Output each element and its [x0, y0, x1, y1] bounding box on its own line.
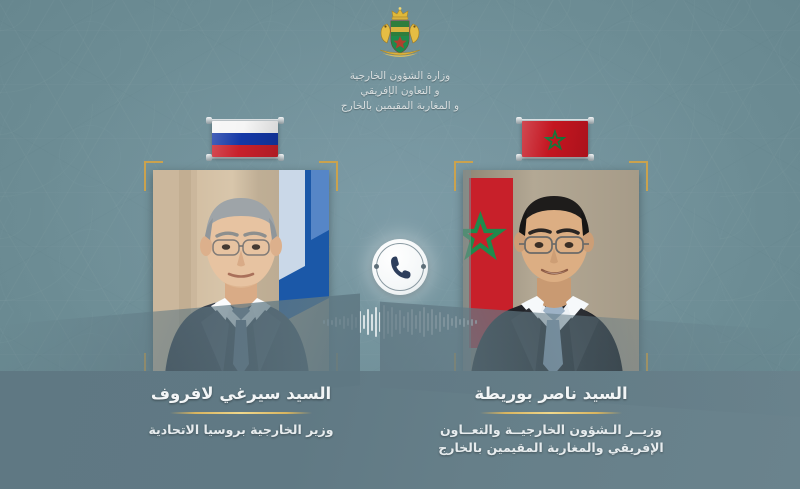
caption-right: السيد ناصر بوريطة وزيــر الـشؤون الخارجي…	[391, 384, 711, 457]
header: وزارة الشؤون الخارجية و التعاون الإفريقي…	[0, 6, 800, 115]
phone-handset-icon	[387, 254, 414, 281]
caption-divider-left	[170, 412, 312, 414]
waveform-bar	[375, 307, 377, 337]
ministry-line-2: و التعاون الإفريقي	[341, 84, 459, 99]
flag-cap-br	[588, 154, 594, 161]
morocco-coat-of-arms-emblem	[368, 6, 432, 64]
call-announcement-card: وزارة الشؤون الخارجية و التعاون الإفريقي…	[0, 0, 800, 489]
ministry-line-3: و المغاربة المقيمين بالخارج	[341, 99, 459, 114]
flag-sheen	[522, 121, 588, 157]
badge-dot-right	[421, 264, 426, 269]
flag-cap-tr	[588, 117, 594, 124]
ministry-line-1: وزارة الشؤون الخارجية	[341, 69, 459, 84]
person-title-right-line-2: الإفريقي والمغاربة المقيمين بالخارج	[391, 439, 711, 457]
person-name-right: السيد ناصر بوريطة	[391, 384, 711, 405]
ministry-name: وزارة الشؤون الخارجية و التعاون الإفريقي…	[341, 69, 459, 115]
flag-cap-br	[278, 154, 284, 161]
person-title-left-line-1: وزير الخارجية بروسيا الاتحادية	[81, 421, 401, 439]
badge-dot-left	[374, 264, 379, 269]
phone-call-badge	[372, 239, 428, 295]
waveform-bar	[367, 309, 369, 335]
person-title-right: وزيــر الـشؤون الخارجيــة والتعــاون الإ…	[391, 421, 711, 457]
person-name-left: السيد سيرغي لافروف	[81, 384, 401, 405]
russia-flag	[212, 121, 278, 157]
person-title-right-line-1: وزيــر الـشؤون الخارجيــة والتعــاون	[391, 421, 711, 439]
flag-sheen	[212, 121, 278, 157]
russia-flag-holder	[206, 117, 284, 161]
morocco-flag	[522, 121, 588, 157]
caption-divider-right	[480, 412, 622, 414]
morocco-flag-holder	[516, 117, 594, 161]
caption-left: السيد سيرغي لافروف وزير الخارجية بروسيا …	[81, 384, 401, 439]
waveform-bar	[363, 315, 365, 329]
flag-cap-tr	[278, 117, 284, 124]
waveform-bar	[371, 314, 373, 331]
person-title-left: وزير الخارجية بروسيا الاتحادية	[81, 421, 401, 439]
